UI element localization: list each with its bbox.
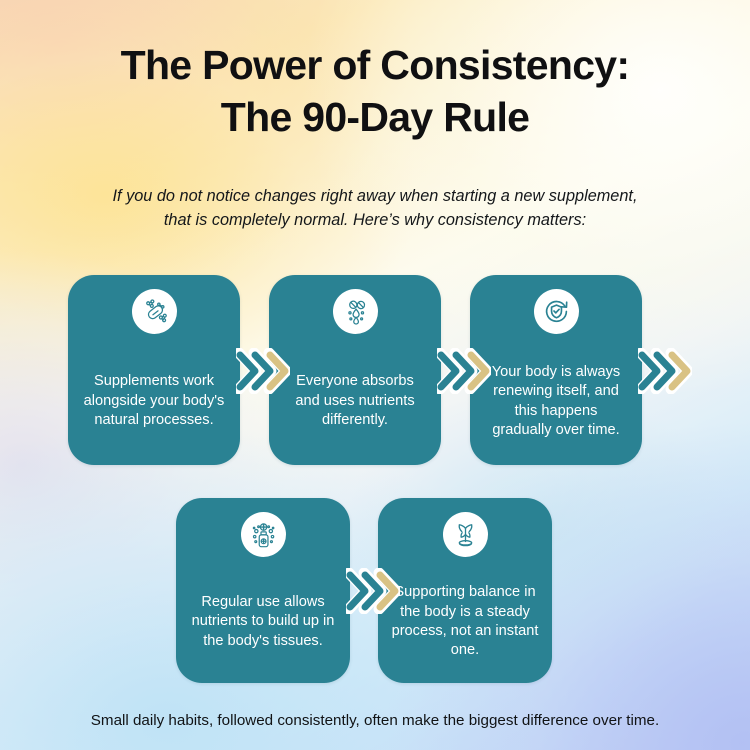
capsules-droplets-icon: [333, 289, 378, 334]
flow-arrow-4: [346, 568, 400, 614]
flow-arrow-3: [638, 348, 692, 394]
step-card-4[interactable]: Regular use allows nutrients to build up…: [176, 498, 350, 683]
subtitle: If you do not notice changes right away …: [72, 185, 678, 233]
flow-arrow-2: [437, 348, 491, 394]
step-card-3-text: Your body is always renewing itself, and…: [470, 338, 642, 465]
flow-arrow-1: [236, 348, 290, 394]
title-line-1: The Power of Consistency:: [121, 42, 630, 88]
footer-text: Small daily habits, followed consistentl…: [40, 712, 710, 729]
page-title: The Power of Consistency: The 90-Day Rul…: [0, 40, 750, 143]
step-card-5-text: Supporting balance in the body is a stea…: [378, 561, 552, 683]
infographic-root: The Power of Consistency: The 90-Day Rul…: [0, 0, 750, 750]
supplement-bottle-icon: [241, 512, 286, 557]
step-card-3[interactable]: Your body is always renewing itself, and…: [470, 275, 642, 465]
subtitle-line-1: If you do not notice changes right away …: [113, 187, 638, 205]
step-card-1[interactable]: Supplements work alongside your body's n…: [68, 275, 240, 465]
step-card-2[interactable]: Everyone absorbs and uses nutrients diff…: [269, 275, 441, 465]
step-card-1-text: Supplements work alongside your body's n…: [68, 338, 240, 465]
capsule-molecule-icon: [132, 289, 177, 334]
step-card-2-text: Everyone absorbs and uses nutrients diff…: [269, 338, 441, 465]
balance-person-icon: [443, 512, 488, 557]
shield-check-renewal-icon: [534, 289, 579, 334]
step-card-4-text: Regular use allows nutrients to build up…: [176, 561, 350, 683]
step-card-5[interactable]: Supporting balance in the body is a stea…: [378, 498, 552, 683]
title-line-2: The 90-Day Rule: [0, 92, 750, 144]
subtitle-line-2: that is completely normal. Here’s why co…: [72, 209, 678, 233]
